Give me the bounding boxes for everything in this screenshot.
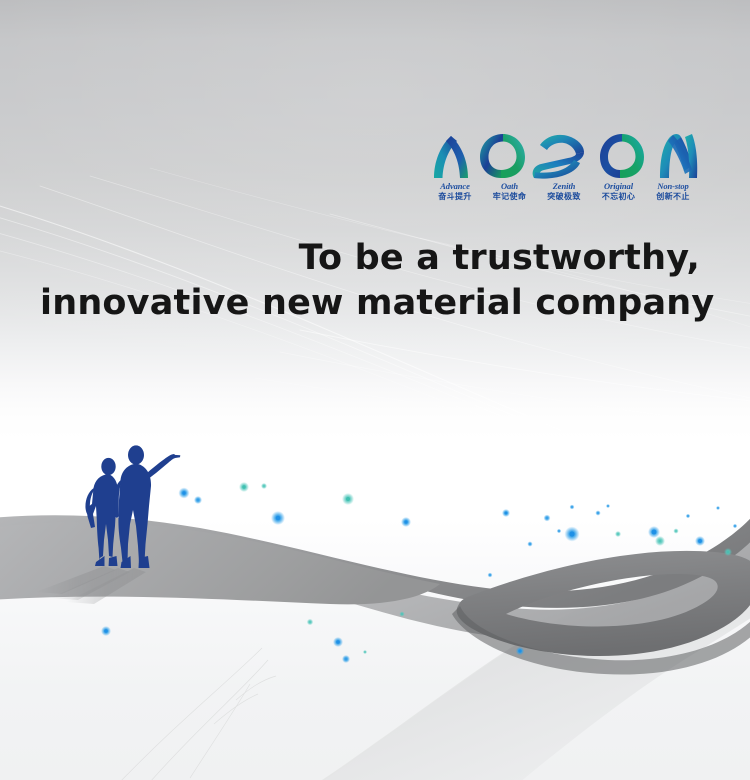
logo-captions: Advance 奋斗提升 Oath 牢记使命 Zenith 突破极致 Origi… bbox=[428, 182, 700, 202]
tagline: To be a trustworthy, innovative new mate… bbox=[40, 236, 700, 326]
caption-en: Zenith bbox=[537, 182, 591, 191]
caption-en: Original bbox=[592, 182, 646, 191]
caption-zh: 突破极致 bbox=[537, 193, 591, 201]
caption-en: Advance bbox=[428, 182, 482, 191]
caption-zh: 创新不止 bbox=[646, 193, 700, 201]
caption-zh: 奋斗提升 bbox=[428, 193, 482, 201]
logo-caption-advance: Advance 奋斗提升 bbox=[428, 182, 482, 202]
tagline-line-1: To be a trustworthy, bbox=[40, 236, 700, 281]
logo-letter-a bbox=[434, 136, 468, 178]
brand-banner: Advance 奋斗提升 Oath 牢记使命 Zenith 突破极致 Origi… bbox=[0, 0, 750, 780]
caption-zh: 牢记使命 bbox=[483, 193, 537, 201]
tagline-line-2: innovative new material company bbox=[40, 281, 700, 326]
logo-caption-oath: Oath 牢记使命 bbox=[483, 182, 537, 202]
caption-en: Oath bbox=[483, 182, 537, 191]
logo-letter-o-2 bbox=[600, 134, 644, 178]
logo-caption-nonstop: Non-stop 创新不止 bbox=[646, 182, 700, 202]
caption-zh: 不忘初心 bbox=[592, 193, 646, 201]
logo-letter-o-1 bbox=[480, 134, 525, 178]
logo-caption-original: Original 不忘初心 bbox=[592, 182, 646, 202]
decorative-curves-lower bbox=[120, 648, 276, 780]
logo-caption-zenith: Zenith 突破极致 bbox=[537, 182, 591, 202]
aozon-logo: Advance 奋斗提升 Oath 牢记使命 Zenith 突破极致 Origi… bbox=[428, 132, 700, 208]
caption-en: Non-stop bbox=[646, 182, 700, 191]
aozon-logo-mark bbox=[428, 132, 700, 180]
illustration-layer bbox=[0, 0, 750, 780]
logo-letter-n bbox=[660, 134, 697, 178]
logo-letter-z bbox=[533, 135, 584, 179]
